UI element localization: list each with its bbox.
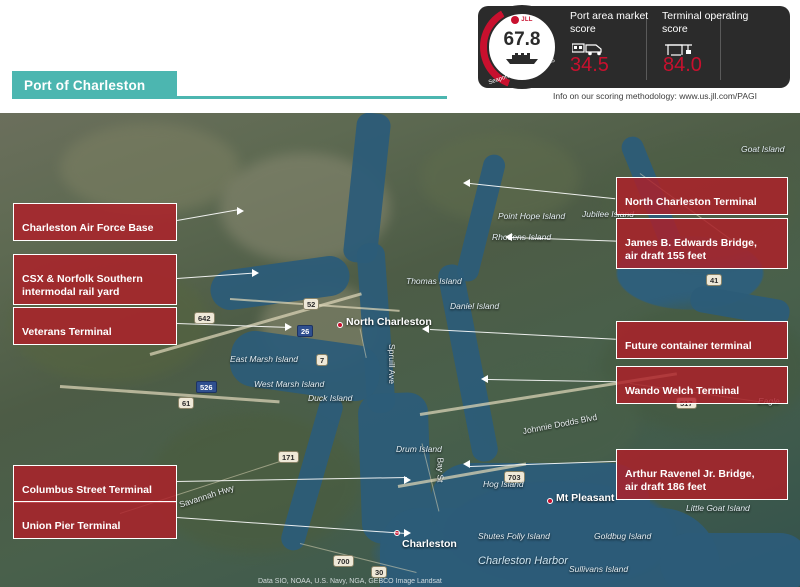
place-label-west-marsh-island: West Marsh Island xyxy=(254,379,324,389)
place-label-goldbug-island: Goldbug Island xyxy=(594,531,651,541)
header: Port of Charleston JLL 67.8 xyxy=(0,0,800,113)
street-label-spruill-ave: Spruill Ave xyxy=(387,344,397,384)
place-label-sullivans-island: Sullivans Island xyxy=(569,564,628,574)
seaport-index-badge: JLL 67.8 Seaport Index Score 2015 xyxy=(480,5,564,89)
leader-arrow-north-charleston-terminal xyxy=(463,179,470,187)
place-label-shutes-folly-island: Shutes Folly Island xyxy=(478,531,550,541)
callout-columbus-street-terminal[interactable]: Columbus Street Terminal xyxy=(13,465,177,503)
callout-future-container-terminal[interactable]: Future container terminal xyxy=(616,321,788,359)
callout-label: Veterans Terminal xyxy=(22,326,112,338)
place-label-daniel-island: Daniel Island xyxy=(450,301,499,311)
place-label-thomas-island: Thomas Island xyxy=(406,276,462,286)
callout-james-b-edwards-bridge[interactable]: James B. Edwards Bridge, air draft 155 f… xyxy=(616,218,788,269)
place-label-little-goat-island: Little Goat Island xyxy=(686,503,750,513)
metric-label: Port area market score xyxy=(570,10,654,36)
callout-charleston-air-force-base[interactable]: Charleston Air Force Base xyxy=(13,203,177,241)
methodology-note: Info on our scoring methodology: www.us.… xyxy=(517,91,793,101)
place-label-charleston-harbor: Charleston Harbor xyxy=(478,555,568,567)
jll-logo-dot xyxy=(511,16,519,24)
ship-icon xyxy=(504,52,540,64)
callout-union-pier-terminal[interactable]: Union Pier Terminal xyxy=(13,501,177,539)
title-underline xyxy=(177,96,447,99)
place-label-point-hope-island: Point Hope Island xyxy=(498,211,565,221)
place-label-north-charleston: North Charleston xyxy=(346,316,432,328)
callout-label: Wando Welch Terminal xyxy=(625,385,739,397)
callout-wando-welch-terminal[interactable]: Wando Welch Terminal xyxy=(616,366,788,404)
route-shield-52: 52 xyxy=(303,298,319,310)
callout-csx-norfolk-southern[interactable]: CSX & Norfolk Southern intermodal rail y… xyxy=(13,254,177,305)
route-shield-61: 61 xyxy=(178,397,194,409)
callout-label: North Charleston Terminal xyxy=(625,196,757,208)
place-label-hog-island: Hog Island xyxy=(483,479,524,489)
callout-label: Charleston Air Force Base xyxy=(22,222,154,234)
place-label-charleston: Charleston xyxy=(402,538,457,550)
leader-arrow-wando-welch-terminal xyxy=(481,375,488,383)
callout-label: Arthur Ravenel Jr. Bridge, air draft 186… xyxy=(625,468,755,493)
city-marker-north-charleston xyxy=(337,322,343,328)
route-shield-171: 171 xyxy=(278,451,299,463)
place-label-goat-island: Goat Island xyxy=(741,144,784,154)
callout-label: Columbus Street Terminal xyxy=(22,484,152,496)
callout-label: James B. Edwards Bridge, air draft 155 f… xyxy=(625,237,757,262)
metric-terminal-operating: Terminal operating score xyxy=(662,10,758,36)
callout-label: Future container terminal xyxy=(625,340,752,352)
route-shield-700: 700 xyxy=(333,555,354,567)
callout-north-charleston-terminal[interactable]: North Charleston Terminal xyxy=(616,177,788,215)
terminal-operating-score: 84.0 xyxy=(663,54,702,77)
route-shield-41: 41 xyxy=(706,274,722,286)
place-label-mt-pleasant: Mt Pleasant xyxy=(556,492,614,504)
terrain-texture xyxy=(60,123,240,213)
leader-arrow-future-container-terminal xyxy=(422,325,429,333)
jll-logo-label: JLL xyxy=(521,17,533,23)
callout-veterans-terminal[interactable]: Veterans Terminal xyxy=(13,307,177,345)
place-label-drum-island: Drum Island xyxy=(396,444,442,454)
route-shield-30: 30 xyxy=(371,566,387,578)
route-shield-7: 7 xyxy=(316,354,328,366)
satellite-map[interactable]: 52 642 26 7 526 61 41 517 171 703 700 30… xyxy=(0,113,800,587)
leader-arrow-veterans-terminal xyxy=(285,323,292,331)
metric-label: Terminal operating score xyxy=(662,10,758,36)
callout-label: Union Pier Terminal xyxy=(22,520,120,532)
route-shield-i526: 526 xyxy=(196,381,217,393)
map-attribution: Data SIO, NOAA, U.S. Navy, NGA, GEBCO Im… xyxy=(258,578,442,585)
badge-caption: Seaport Index Score 2015 xyxy=(480,65,564,89)
leader-arrow-air-force-base xyxy=(237,207,244,215)
page-title-label: Port of Charleston xyxy=(24,78,145,93)
leader-arrow-arthur-ravenel-bridge xyxy=(463,460,470,468)
leader-arrow-columbus-street xyxy=(404,476,411,484)
leader-arrow-union-pier xyxy=(404,529,411,537)
place-label-duck-island: Duck Island xyxy=(308,393,352,403)
port-area-market-score: 34.5 xyxy=(570,54,609,77)
city-marker-mt-pleasant xyxy=(547,498,553,504)
metric-port-area-market: Port area market score xyxy=(570,10,654,36)
route-shield-i26: 26 xyxy=(297,325,313,337)
page-title: Port of Charleston xyxy=(12,71,177,99)
screenshot-root: Port of Charleston JLL 67.8 xyxy=(0,0,800,587)
seaport-index-score: 67.8 xyxy=(480,29,564,51)
callout-label: CSX & Norfolk Southern intermodal rail y… xyxy=(22,273,143,298)
place-label-east-marsh-island: East Marsh Island xyxy=(230,354,298,364)
street-label-bay-st: Bay St xyxy=(436,457,446,482)
leader-arrow-james-b-edwards-bridge xyxy=(505,233,512,241)
jll-logo: JLL xyxy=(504,14,540,25)
leader-arrow-rail-yard xyxy=(252,269,259,277)
atlantic-inlet xyxy=(660,533,800,587)
callout-arthur-ravenel-bridge[interactable]: Arthur Ravenel Jr. Bridge, air draft 186… xyxy=(616,449,788,500)
route-shield-642: 642 xyxy=(194,312,215,324)
